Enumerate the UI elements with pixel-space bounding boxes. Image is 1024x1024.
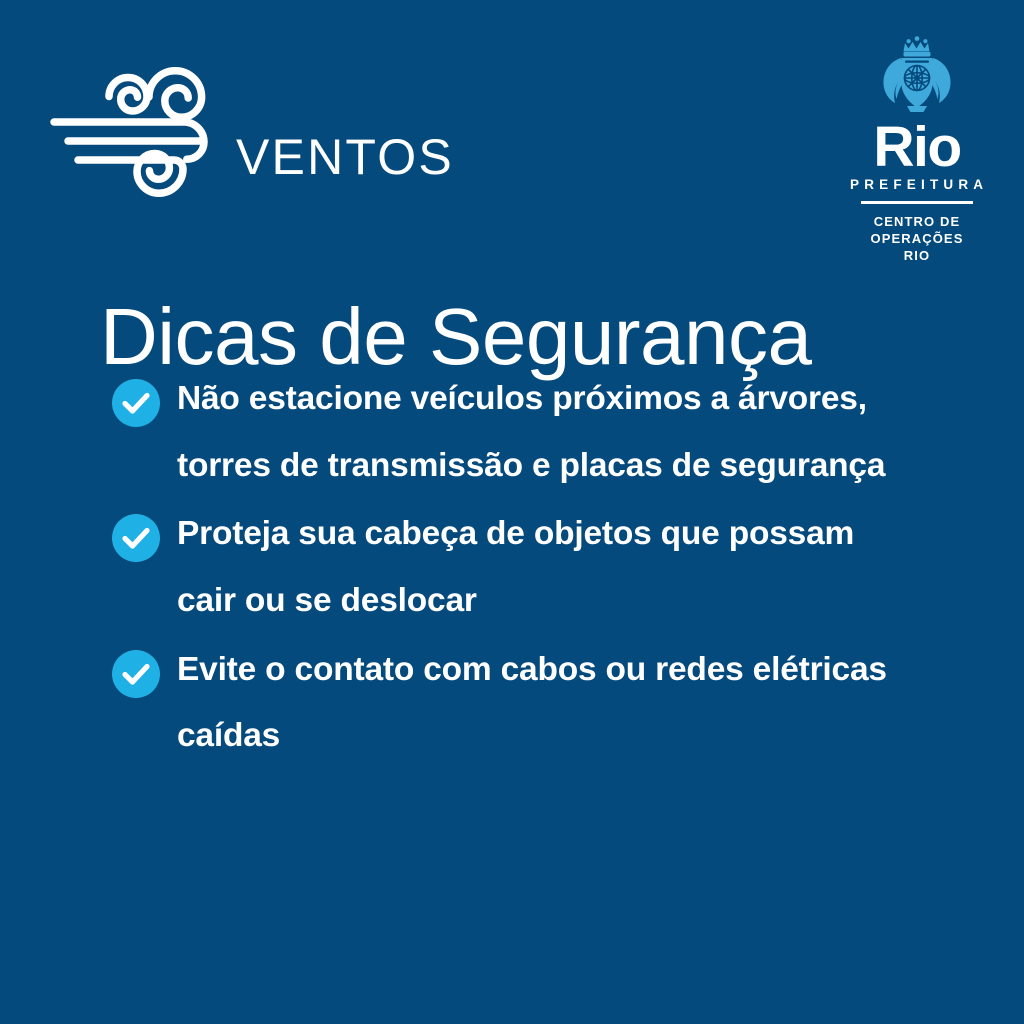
list-item-label: Não estacione veículos próximos a árvore…: [177, 366, 912, 499]
list-item: Proteja sua cabeça de objetos que possam…: [112, 509, 912, 634]
logo-subline-2: OPERAÇÕES: [846, 230, 988, 247]
logo-divider: [861, 201, 973, 204]
check-circle-icon: [112, 379, 160, 427]
prefeitura-label: PREFEITURA: [846, 178, 988, 192]
list-item: Não estacione veículos próximos a árvore…: [112, 374, 912, 499]
ventos-label: VENTOS: [236, 132, 454, 182]
logo-subline-1: CENTRO DE: [846, 213, 988, 230]
rio-prefeitura-logo: Rio PREFEITURA CENTRO DE OPERAÇÕES RIO: [846, 34, 988, 264]
rio-coat-of-arms-icon: [874, 34, 960, 114]
wind-icon: [48, 63, 226, 198]
check-circle-icon: [112, 650, 160, 698]
check-circle-icon: [112, 514, 160, 562]
list-item-label: Proteja sua cabeça de objetos que possam…: [177, 501, 912, 634]
logo-subline-3: RIO: [846, 247, 988, 264]
safety-tips-list: Não estacione veículos próximos a árvore…: [112, 374, 912, 780]
safety-tips-poster: VENTOS: [0, 0, 1024, 1024]
list-item: Evite o contato com cabos ou redes elétr…: [112, 645, 912, 770]
rio-wordmark: Rio: [846, 120, 988, 174]
ventos-header: VENTOS: [48, 58, 454, 198]
list-item-label: Evite o contato com cabos ou redes elétr…: [177, 637, 912, 770]
